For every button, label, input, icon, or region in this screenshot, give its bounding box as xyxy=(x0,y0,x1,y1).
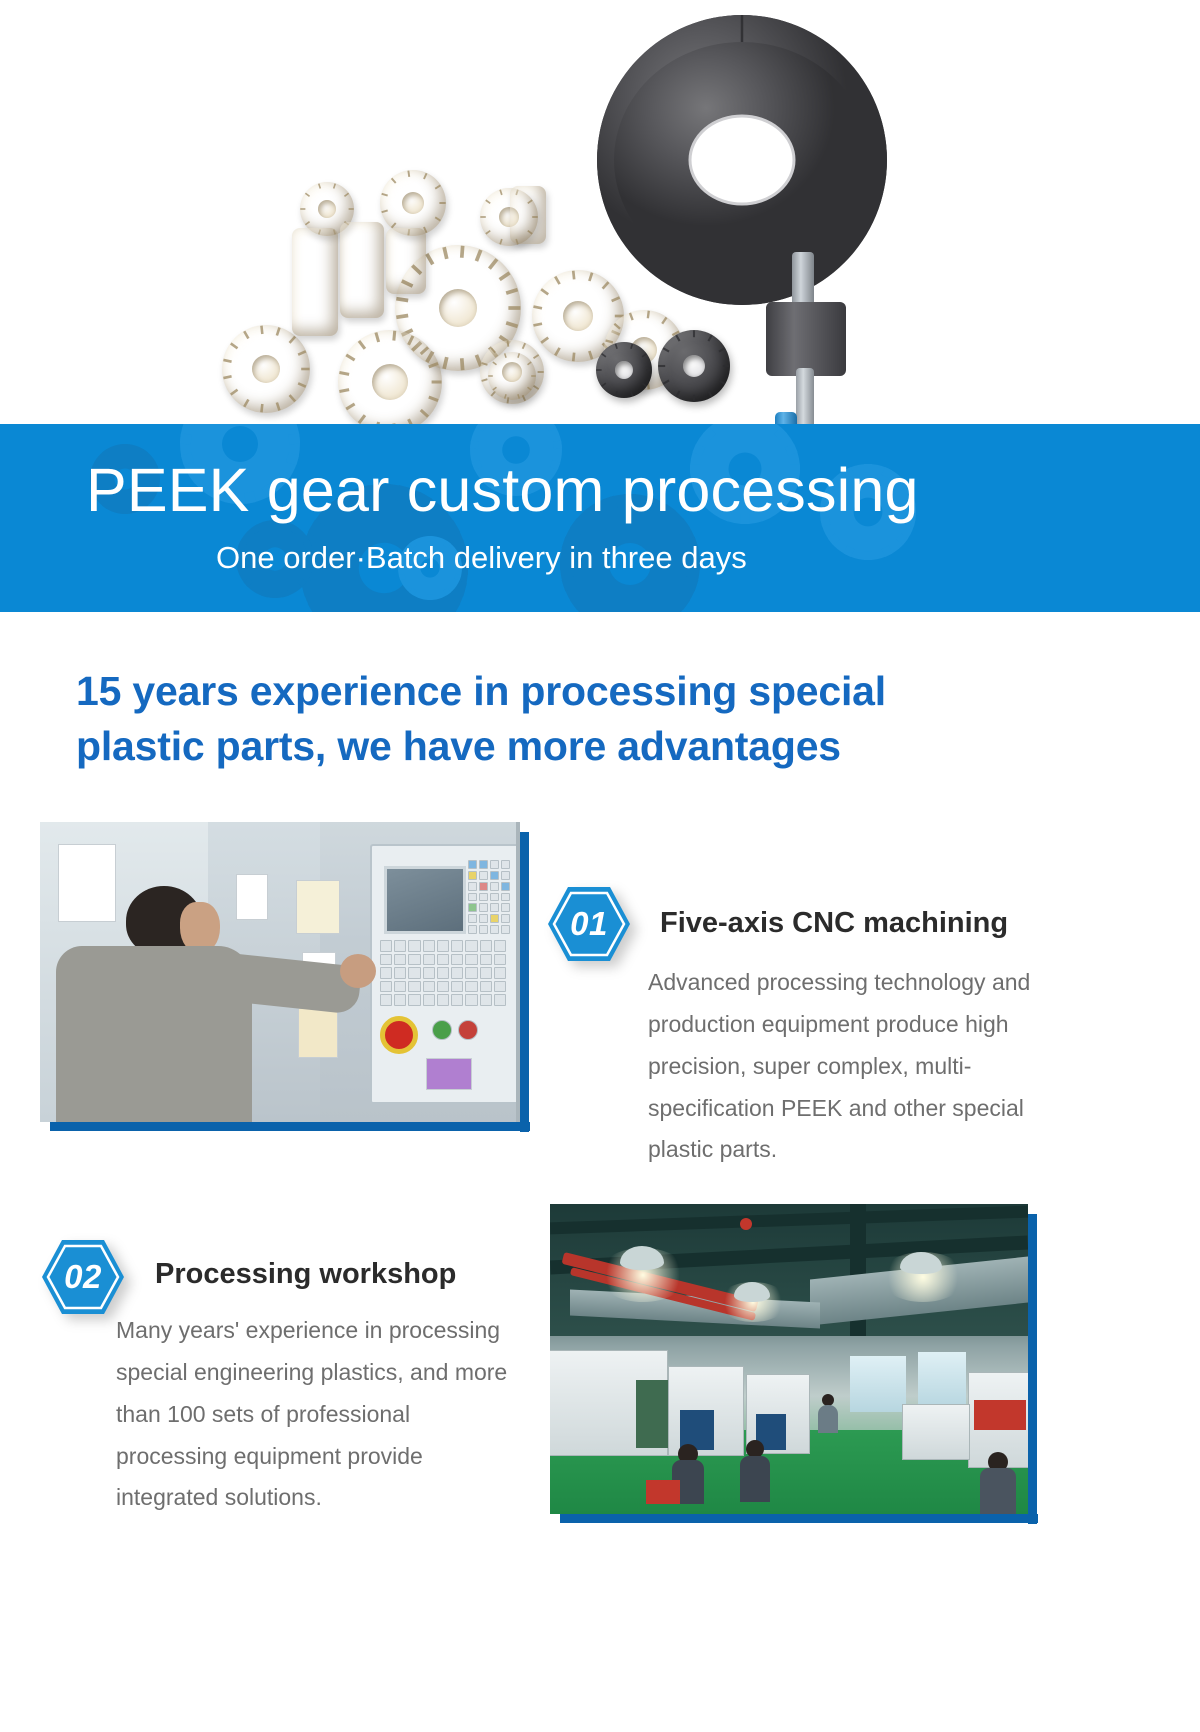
banner-subtitle: One order·Batch delivery in three days xyxy=(216,540,747,576)
feature-body-01: Advanced processing technology and produ… xyxy=(648,962,1086,1171)
feature-title-02: Processing workshop xyxy=(155,1258,456,1291)
small-dark-gears xyxy=(596,330,736,410)
dark-splined-shaft xyxy=(752,252,862,432)
section-heading-line-1: 15 years experience in processing specia… xyxy=(76,664,1096,719)
photo-border-bottom xyxy=(50,1122,530,1131)
hero-banner: PEEK gear custom processing One order·Ba… xyxy=(0,424,1200,612)
marketing-page: PEEK gear custom processing One order·Ba… xyxy=(0,0,1200,1732)
section-heading: 15 years experience in processing specia… xyxy=(76,664,1096,775)
feature-title-01: Five-axis CNC machining xyxy=(660,907,1008,940)
feature-body-02: Many years' experience in processing spe… xyxy=(116,1310,516,1519)
feature-badge-02: 02 xyxy=(40,1238,126,1316)
workshop-photo xyxy=(550,1204,1028,1514)
photo-border-bottom-02 xyxy=(560,1514,1038,1523)
section-heading-line-2: plastic parts, we have more advantages xyxy=(76,719,1096,774)
hero-product-image xyxy=(0,0,1200,470)
cnc-machining-photo xyxy=(40,822,520,1122)
feature-badge-01: 01 xyxy=(546,885,632,963)
photo-border-right xyxy=(520,832,529,1132)
banner-title: PEEK gear custom processing xyxy=(86,458,919,522)
photo-border-right-02 xyxy=(1028,1214,1037,1524)
